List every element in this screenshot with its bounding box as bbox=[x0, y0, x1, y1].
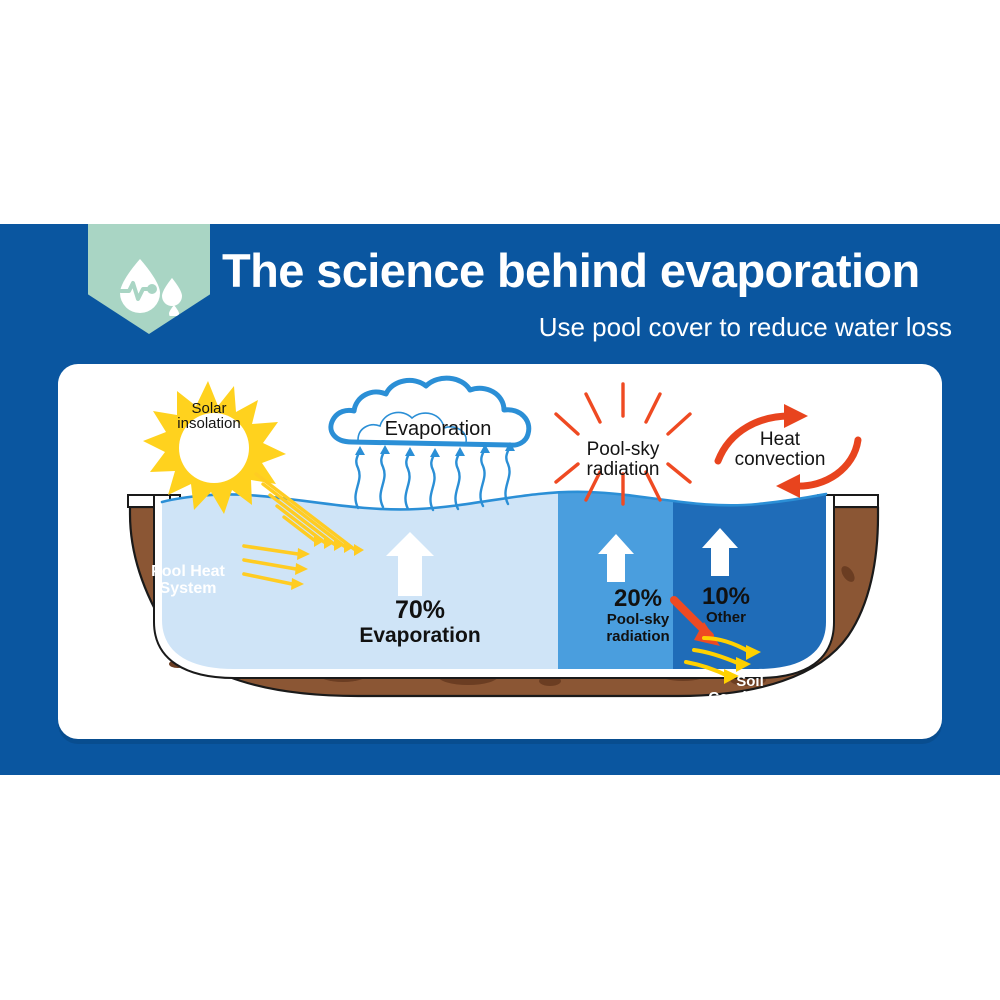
pool-heat-system-label: Pool Heat System bbox=[138, 564, 238, 598]
evaporation-cloud-label: Evaporation bbox=[368, 418, 508, 441]
segment-name-poolsky-2: radiation bbox=[606, 628, 669, 645]
segment-name-poolsky-1: Pool-sky bbox=[607, 611, 670, 628]
segment-name-evaporation: Evaporation bbox=[359, 624, 480, 647]
page-subtitle: Use pool cover to reduce water loss bbox=[222, 312, 952, 343]
soil-conduction-label: Soil Conduction bbox=[690, 674, 810, 706]
segment-label-evaporation: 70% Evaporation bbox=[340, 596, 500, 648]
page-title: The science behind evaporation bbox=[222, 247, 952, 296]
infographic-root: The science behind evaporation Use pool … bbox=[0, 0, 1000, 1000]
segment-name-other: Other bbox=[706, 609, 746, 626]
solar-insolation-label: Solar insolation bbox=[163, 401, 255, 432]
diagram-card: Solar insolation Pool Heat System Evapor… bbox=[58, 364, 942, 739]
segment-percent-other: 10% bbox=[676, 584, 776, 610]
pool-sky-radiation-label: Pool-sky radiation bbox=[558, 440, 688, 480]
water-segment-poolsky bbox=[558, 484, 673, 684]
water-droplet-pulse-icon bbox=[114, 258, 184, 316]
segment-percent-evaporation: 70% bbox=[340, 596, 500, 624]
segment-label-other: 10% Other bbox=[676, 584, 776, 627]
heat-convection-label: Heat convection bbox=[710, 430, 850, 470]
